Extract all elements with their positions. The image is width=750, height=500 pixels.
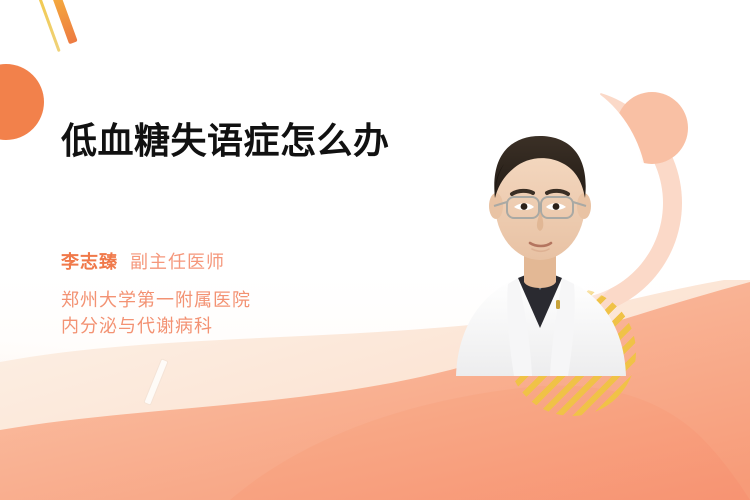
doctor-title: 副主任医师	[130, 252, 225, 272]
health-video-cover: 低血糖失语症怎么办 李志臻副主任医师 郑州大学第一附属医院 内分泌与代谢病科	[0, 0, 750, 500]
doctor-portrait	[432, 76, 648, 376]
doctor-affiliation: 郑州大学第一附属医院 内分泌与代谢病科	[61, 287, 251, 339]
hospital-name: 郑州大学第一附属医院	[61, 287, 251, 313]
doctor-name: 李志臻	[61, 252, 118, 272]
page-title: 低血糖失语症怎么办	[61, 119, 401, 163]
doctor-credential: 李志臻副主任医师	[61, 250, 225, 274]
department-name: 内分泌与代谢病科	[61, 313, 251, 339]
